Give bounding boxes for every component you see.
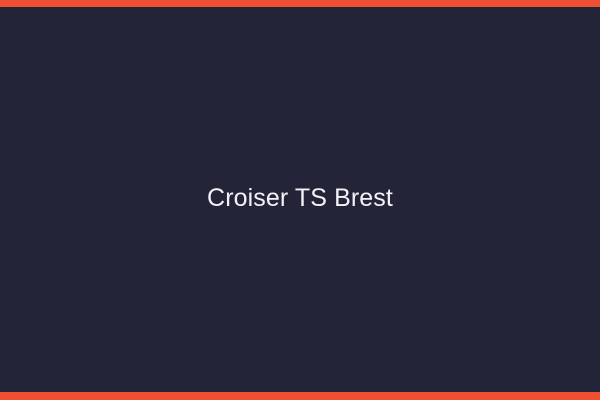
- placeholder-canvas: Croiser TS Brest: [0, 7, 600, 392]
- placeholder-card: Croiser TS Brest: [0, 0, 600, 400]
- placeholder-caption: Croiser TS Brest: [207, 183, 393, 213]
- top-accent-bar: [0, 0, 600, 7]
- bottom-accent-bar: [0, 392, 600, 400]
